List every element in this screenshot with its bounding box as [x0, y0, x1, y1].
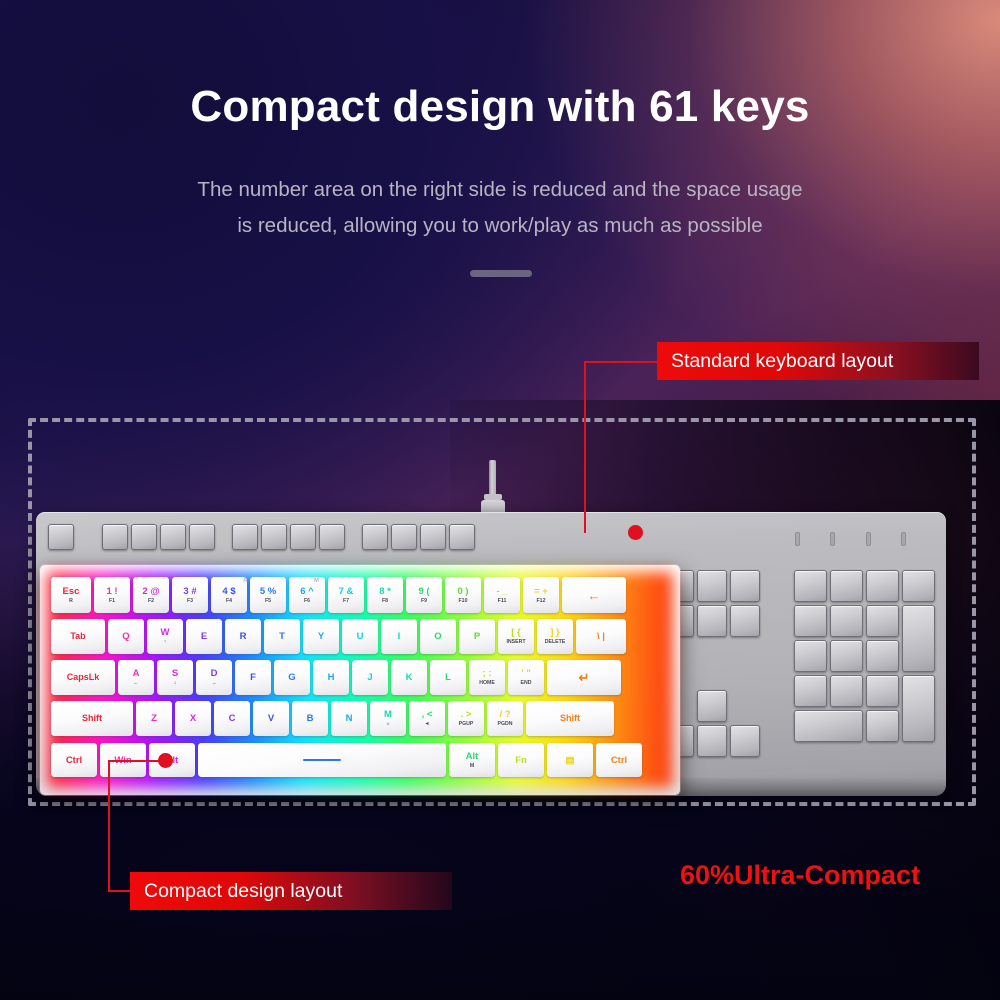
key-legend: 7 &: [339, 586, 354, 597]
key-legend: D: [211, 668, 218, 679]
key-sublegend: INSERT: [506, 639, 525, 646]
key-sublegend: F6: [304, 598, 310, 605]
key-legend: C: [229, 713, 236, 724]
key-legend: 5 %: [260, 586, 276, 597]
callout-compact-layout: Compact design layout: [130, 872, 452, 910]
key-legend: ' ": [521, 668, 530, 679]
full-keyboard-blank-key[interactable]: [189, 524, 215, 550]
spacebar-indicator: [303, 759, 341, 761]
key-q[interactable]: Q: [108, 619, 144, 654]
key-sublegend: ↓: [174, 680, 177, 687]
key-sublegend: F1: [109, 598, 115, 605]
key-sublegend: HOME: [479, 680, 495, 687]
key-legend: , <: [422, 709, 433, 720]
arrow-key[interactable]: [697, 725, 727, 757]
key-legend: E: [201, 631, 207, 642]
key-sublegend: R: [69, 598, 73, 605]
key-sublegend: ↑: [164, 639, 167, 646]
full-keyboard-blank-key[interactable]: [391, 524, 417, 550]
page-subtitle: The number area on the right side is red…: [0, 172, 1000, 244]
key-legend: Z: [151, 713, 157, 724]
key-sublegend: END: [521, 680, 532, 687]
key-h[interactable]: H: [313, 660, 349, 695]
key-l[interactable]: L: [430, 660, 466, 695]
key-legend: 9 (: [418, 586, 429, 597]
numpad-key[interactable]: [866, 675, 899, 707]
key-fn[interactable]: Fn: [498, 743, 544, 777]
key-legend: 3 #: [183, 586, 196, 597]
key-legend: A: [133, 668, 140, 679]
key-c[interactable]: C: [214, 701, 250, 736]
key-legend: H: [328, 672, 335, 683]
key-sublegend: F3: [187, 598, 193, 605]
numpad-key[interactable]: [830, 640, 863, 672]
key-legend: Ctrl: [66, 755, 82, 766]
key-legend: 8 *: [379, 586, 391, 597]
numpad-key[interactable]: [794, 605, 827, 637]
key-[interactable]: ] }DELETE: [537, 619, 573, 654]
key-p[interactable]: P: [459, 619, 495, 654]
key-sublegend: F9: [421, 598, 427, 605]
full-keyboard-blank-key[interactable]: [420, 524, 446, 550]
plate-tag-m: M: [314, 578, 319, 584]
numpad-plus-key[interactable]: [902, 605, 935, 672]
full-keyboard-blank-key[interactable]: [131, 524, 157, 550]
key-a[interactable]: A←: [118, 660, 154, 695]
key-1[interactable]: 1 !F1: [94, 577, 130, 613]
key-legend: U: [357, 631, 364, 642]
numpad-key[interactable]: [830, 605, 863, 637]
full-keyboard-blank-key[interactable]: [232, 524, 258, 550]
arrow-up-key[interactable]: [697, 690, 727, 722]
product-banner: Compact design with 61 keys The number a…: [0, 0, 1000, 1000]
full-keyboard-blank-key[interactable]: [102, 524, 128, 550]
key-[interactable]: - _F11: [484, 577, 520, 613]
key-legend: Shift: [560, 713, 580, 724]
key-d[interactable]: D→: [196, 660, 232, 695]
key-alt[interactable]: AltM: [449, 743, 495, 777]
numpad-dot-key[interactable]: [866, 710, 899, 742]
key-legend: 6 ^: [300, 586, 313, 597]
nav-key[interactable]: [697, 570, 727, 602]
key-[interactable]: ; :HOME: [469, 660, 505, 695]
key-sublegend: →: [211, 680, 216, 687]
key-legend: T: [279, 631, 285, 642]
key-legend: Y: [318, 631, 324, 642]
key-shift[interactable]: Shift: [526, 701, 614, 736]
key-tab[interactable]: Tab: [51, 619, 105, 654]
key-v[interactable]: V: [253, 701, 289, 736]
key-sublegend: ☼: [386, 721, 391, 728]
key-sublegend: F10: [459, 598, 468, 605]
key-capslk[interactable]: CapsLk: [51, 660, 115, 695]
full-keyboard-blank-key[interactable]: [261, 524, 287, 550]
key-y[interactable]: Y: [303, 619, 339, 654]
key-legend: F: [250, 672, 256, 683]
key-sublegend: PGDN: [498, 721, 513, 728]
key-legend: N: [346, 713, 353, 724]
numpad-key[interactable]: [866, 640, 899, 672]
key-0[interactable]: 0 )F10: [445, 577, 481, 613]
key-legend: S: [172, 668, 178, 679]
key-sublegend: M: [470, 763, 474, 770]
numpad-enter-key[interactable]: [902, 675, 935, 742]
key-legend: ↵: [579, 672, 590, 683]
key-4[interactable]: 4 $F4: [211, 577, 247, 613]
key-legend: R: [240, 631, 247, 642]
key-legend: Ctrl: [611, 755, 627, 766]
key-[interactable]: . >PGUP: [448, 701, 484, 736]
key-legend: . >: [461, 709, 472, 720]
key-9[interactable]: 9 (F9: [406, 577, 442, 613]
key-6[interactable]: 6 ^F6: [289, 577, 325, 613]
key-e[interactable]: E: [186, 619, 222, 654]
ultra-compact-label: 60%Ultra-Compact: [680, 860, 920, 891]
leader-line-top-vertical: [584, 361, 586, 533]
key-legend: / ?: [499, 709, 510, 720]
key-legend: W: [161, 627, 170, 638]
key-sublegend: F12: [537, 598, 546, 605]
key-b[interactable]: B: [292, 701, 328, 736]
led-indicator-3: [866, 532, 871, 546]
key-2[interactable]: 2 @F2: [133, 577, 169, 613]
key-[interactable]: \ |: [576, 619, 626, 654]
key-sublegend: F11: [498, 598, 507, 605]
key-[interactable]: / ?PGDN: [487, 701, 523, 736]
subtitle-line-2: is reduced, allowing you to work/play as…: [0, 208, 1000, 244]
key-sublegend: ◄: [424, 721, 429, 728]
key-[interactable]: = +F12: [523, 577, 559, 613]
numpad-key[interactable]: [866, 605, 899, 637]
key-legend: Q: [122, 631, 129, 642]
key-legend: Fn: [515, 755, 527, 766]
key-r[interactable]: R: [225, 619, 261, 654]
callout-dot-standard: [628, 525, 643, 540]
key-legend: L: [445, 672, 451, 683]
key-legend: ▤: [566, 755, 575, 766]
key-legend: P: [474, 631, 480, 642]
key-legend: 2 @: [142, 586, 159, 597]
key-sublegend: F5: [265, 598, 271, 605]
key-[interactable]: ▤: [547, 743, 593, 777]
key-legend: Esc: [63, 586, 80, 597]
key-shift[interactable]: Shift: [51, 701, 133, 736]
full-keyboard-blank-key[interactable]: [362, 524, 388, 550]
key-[interactable]: , <◄: [409, 701, 445, 736]
key-sublegend: F4: [226, 598, 232, 605]
full-keyboard-blank-key[interactable]: [48, 524, 74, 550]
led-indicator-1: [795, 532, 800, 546]
key-sublegend: DELETE: [545, 639, 565, 646]
key-legend: O: [434, 631, 441, 642]
key-m[interactable]: M☼: [370, 701, 406, 736]
key-sublegend: ←: [133, 680, 138, 687]
key-8[interactable]: 8 *F8: [367, 577, 403, 613]
key-legend: J: [367, 672, 372, 683]
nav-key[interactable]: [697, 605, 727, 637]
leader-line-top-horizontal: [584, 361, 658, 363]
key-legend: B: [307, 713, 314, 724]
key-5[interactable]: 5 %F5: [250, 577, 286, 613]
key-ctrl[interactable]: Ctrl: [51, 743, 97, 777]
led-indicator-2: [830, 532, 835, 546]
key-k[interactable]: K: [391, 660, 427, 695]
key-sublegend: F7: [343, 598, 349, 605]
key-esc[interactable]: EscR: [51, 577, 91, 613]
numpad-key[interactable]: [830, 675, 863, 707]
numpad-key[interactable]: [866, 570, 899, 602]
key-j[interactable]: J: [352, 660, 388, 695]
key-legend: = +: [534, 586, 548, 597]
key-legend: ←: [588, 590, 601, 601]
callout-dot-compact: [158, 753, 173, 768]
key-i[interactable]: I: [381, 619, 417, 654]
key-sublegend: PGUP: [459, 721, 474, 728]
title-divider: [470, 270, 532, 277]
key-[interactable]: ↵: [547, 660, 621, 695]
key-o[interactable]: O: [420, 619, 456, 654]
subtitle-line-1: The number area on the right side is red…: [0, 172, 1000, 208]
callout-standard-layout: Standard keyboard layout: [657, 342, 979, 380]
key-legend: Alt: [466, 751, 479, 762]
key-x[interactable]: X: [175, 701, 211, 736]
key-legend: 1 !: [106, 586, 117, 597]
key-3[interactable]: 3 #F3: [172, 577, 208, 613]
key-legend: 4 $: [222, 586, 235, 597]
key-legend: [ {: [511, 627, 521, 638]
key-legend: V: [268, 713, 274, 724]
arrow-key[interactable]: [730, 725, 760, 757]
key-legend: CapsLk: [67, 672, 100, 683]
numpad-key[interactable]: [794, 675, 827, 707]
key-space[interactable]: [198, 743, 446, 777]
key-[interactable]: ' "END: [508, 660, 544, 695]
numpad-key[interactable]: [902, 570, 935, 602]
key-legend: K: [406, 672, 413, 683]
key-s[interactable]: S↓: [157, 660, 193, 695]
full-keyboard-blank-key[interactable]: [319, 524, 345, 550]
key-legend: 0 ): [457, 586, 468, 597]
key-legend: ; :: [483, 668, 492, 679]
key-[interactable]: ←: [562, 577, 626, 613]
numpad-key[interactable]: [830, 570, 863, 602]
compact-keyboard-keys: EscR1 !F12 @F23 #F34 $F45 %F56 ^F67 &F78…: [47, 572, 673, 788]
key-ctrl[interactable]: Ctrl: [596, 743, 642, 777]
key-legend: ] }: [550, 627, 560, 638]
key-n[interactable]: N: [331, 701, 367, 736]
numpad-zero-key[interactable]: [794, 710, 863, 742]
led-indicator-4: [901, 532, 906, 546]
key-legend: X: [190, 713, 196, 724]
key-f[interactable]: F: [235, 660, 271, 695]
key-z[interactable]: Z: [136, 701, 172, 736]
key-legend: G: [288, 672, 295, 683]
full-keyboard-blank-key[interactable]: [290, 524, 316, 550]
key-sublegend: F8: [382, 598, 388, 605]
key-w[interactable]: W↑: [147, 619, 183, 654]
key-legend: I: [398, 631, 401, 642]
key-t[interactable]: T: [264, 619, 300, 654]
plate-tag-a: A: [243, 578, 247, 584]
key-legend: Shift: [82, 713, 102, 724]
key-legend: Tab: [70, 631, 85, 642]
key-u[interactable]: U: [342, 619, 378, 654]
key-sublegend: F2: [148, 598, 154, 605]
numpad-key[interactable]: [794, 640, 827, 672]
key-7[interactable]: 7 &F7: [328, 577, 364, 613]
key-[interactable]: [ {INSERT: [498, 619, 534, 654]
key-legend: \ |: [597, 631, 605, 642]
full-keyboard-blank-key[interactable]: [449, 524, 475, 550]
key-legend: M: [384, 709, 392, 720]
leader-line-bottom-horizontal: [108, 890, 132, 892]
nav-key[interactable]: [730, 570, 760, 602]
numpad-key[interactable]: [794, 570, 827, 602]
nav-key[interactable]: [730, 605, 760, 637]
full-keyboard-blank-key[interactable]: [160, 524, 186, 550]
key-g[interactable]: G: [274, 660, 310, 695]
leader-line-bottom-vertical: [108, 760, 110, 892]
page-title: Compact design with 61 keys: [0, 82, 1000, 132]
key-legend: - _: [496, 586, 507, 597]
